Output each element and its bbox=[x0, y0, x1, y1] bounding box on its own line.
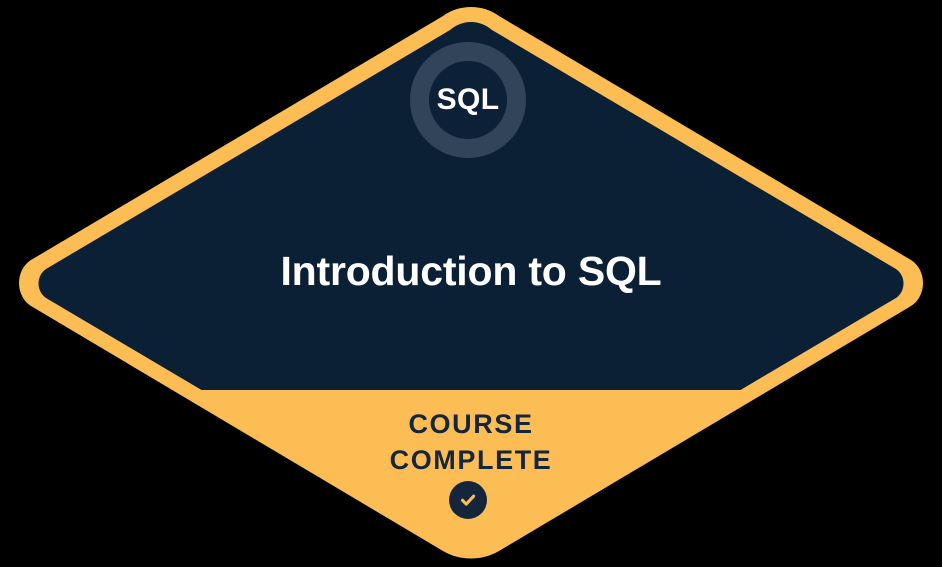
emblem-label: SQL bbox=[410, 42, 526, 158]
status-block: COURSE COMPLETE bbox=[0, 406, 942, 478]
sql-emblem-icon: SQL bbox=[410, 42, 526, 158]
status-line-complete: COMPLETE bbox=[0, 442, 942, 478]
check-mark-icon bbox=[449, 481, 487, 519]
course-title: Introduction to SQL bbox=[0, 246, 942, 296]
status-line-course: COURSE bbox=[0, 406, 942, 442]
course-completion-badge: SQL Introduction to SQL COURSE COMPLETE bbox=[0, 0, 942, 567]
